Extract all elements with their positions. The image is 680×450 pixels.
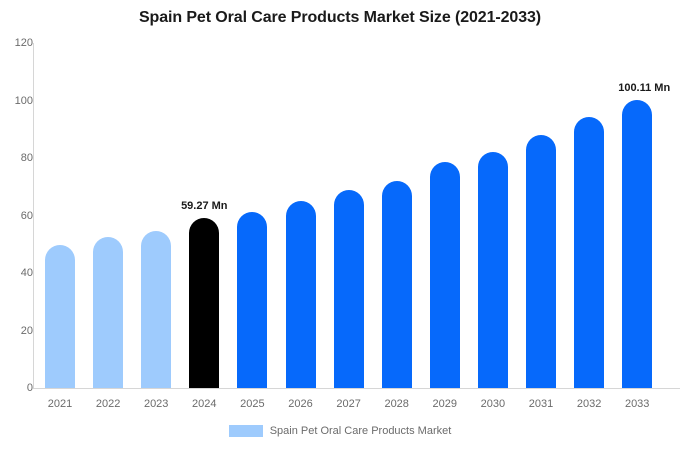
bar[interactable] bbox=[334, 190, 364, 388]
x-axis-tick-label: 2022 bbox=[96, 398, 120, 410]
bar[interactable] bbox=[382, 181, 412, 388]
bar-chart: Spain Pet Oral Care Products Market Size… bbox=[0, 0, 680, 450]
bar-column[interactable]: 100.11 Mn2033 bbox=[622, 43, 652, 388]
bar-column[interactable]: 2023 bbox=[141, 43, 171, 388]
chart-legend: Spain Pet Oral Care Products Market bbox=[0, 425, 680, 437]
x-axis-tick-label: 2033 bbox=[625, 398, 649, 410]
bar-column[interactable]: 2032 bbox=[574, 43, 604, 388]
bar-column[interactable]: 2025 bbox=[237, 43, 267, 388]
bar-column[interactable]: 2022 bbox=[93, 43, 123, 388]
bar[interactable] bbox=[45, 245, 75, 388]
x-axis-tick-label: 2023 bbox=[144, 398, 168, 410]
bar-column[interactable]: 2028 bbox=[382, 43, 412, 388]
x-axis-tick-label: 2031 bbox=[529, 398, 553, 410]
bar-column[interactable]: 2026 bbox=[286, 43, 316, 388]
bar[interactable] bbox=[430, 162, 460, 388]
bar-value-label: 100.11 Mn bbox=[618, 82, 670, 94]
bar[interactable] bbox=[622, 100, 652, 388]
bar-column[interactable]: 2030 bbox=[478, 43, 508, 388]
x-axis-tick-label: 2028 bbox=[384, 398, 408, 410]
y-axis-tick-label: 100 bbox=[5, 95, 33, 107]
y-axis-tick-label: 0 bbox=[5, 382, 33, 394]
chart-title: Spain Pet Oral Care Products Market Size… bbox=[0, 9, 680, 27]
bar[interactable] bbox=[526, 135, 556, 388]
bar-value-label: 59.27 Mn bbox=[181, 200, 227, 212]
legend-swatch-icon bbox=[229, 425, 263, 437]
bar[interactable] bbox=[574, 117, 604, 388]
y-axis-tick-label: 120 bbox=[5, 37, 33, 49]
y-axis: 020406080100120 bbox=[0, 0, 33, 450]
bar-column[interactable]: 2031 bbox=[526, 43, 556, 388]
x-axis-tick-label: 2032 bbox=[577, 398, 601, 410]
y-axis-tick-label: 40 bbox=[5, 267, 33, 279]
bar[interactable] bbox=[141, 231, 171, 388]
x-axis-tick-label: 2024 bbox=[192, 398, 216, 410]
y-axis-tick-label: 60 bbox=[5, 210, 33, 222]
y-axis-tick-label: 80 bbox=[5, 152, 33, 164]
x-axis-tick-label: 2030 bbox=[481, 398, 505, 410]
bar[interactable] bbox=[189, 218, 219, 388]
x-axis-line bbox=[33, 388, 680, 389]
bar[interactable] bbox=[478, 152, 508, 388]
bar[interactable] bbox=[93, 237, 123, 388]
x-axis-tick-label: 2025 bbox=[240, 398, 264, 410]
x-axis-tick-label: 2026 bbox=[288, 398, 312, 410]
x-axis-tick-label: 2029 bbox=[433, 398, 457, 410]
x-axis-tick-label: 2027 bbox=[336, 398, 360, 410]
bar[interactable] bbox=[237, 212, 267, 388]
bar-column[interactable]: 2021 bbox=[45, 43, 75, 388]
bar-column[interactable]: 2029 bbox=[430, 43, 460, 388]
bar-column[interactable]: 2027 bbox=[334, 43, 364, 388]
x-axis-tick-label: 2021 bbox=[48, 398, 72, 410]
bar-column[interactable]: 59.27 Mn2024 bbox=[189, 43, 219, 388]
legend-item-label: Spain Pet Oral Care Products Market bbox=[270, 425, 452, 437]
y-axis-tick-label: 20 bbox=[5, 325, 33, 337]
bar[interactable] bbox=[286, 201, 316, 388]
